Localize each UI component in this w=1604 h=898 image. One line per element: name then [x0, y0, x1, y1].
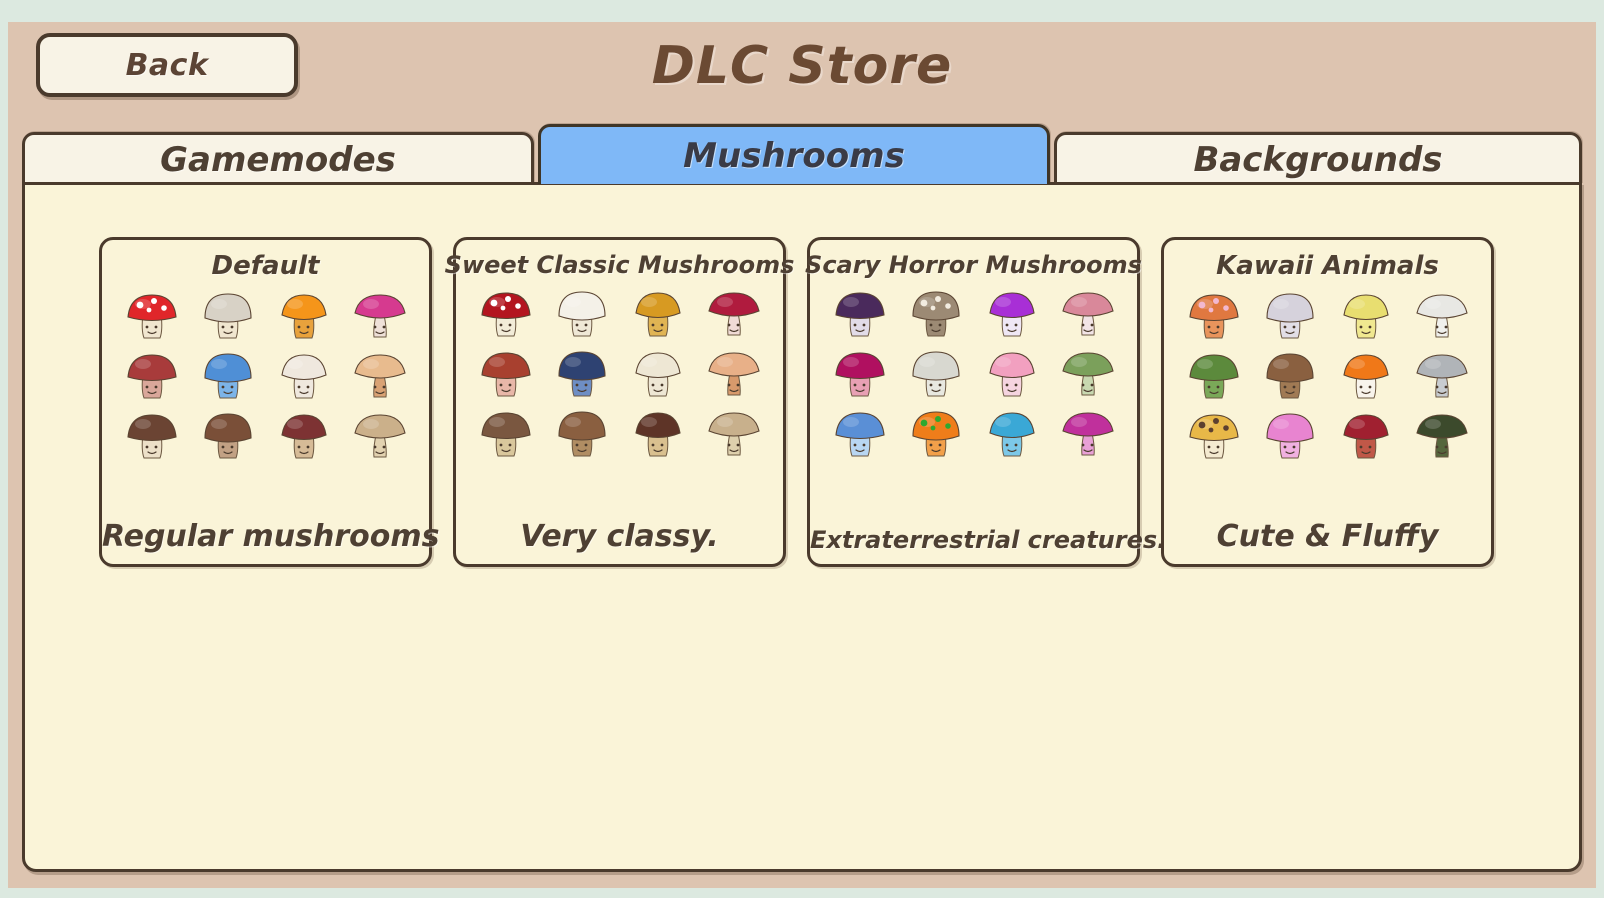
pale-parasol-sprite: [706, 409, 762, 461]
sprite-grid: [477, 288, 763, 462]
pack-title: Scary Horror Mushrooms: [805, 253, 1142, 278]
sprite-grid: [831, 288, 1117, 462]
grey-bunny-sprite: [1262, 291, 1318, 343]
navy-spiky-mushroom-sprite: [554, 349, 610, 401]
orange-coral-mushroom-sprite: [276, 291, 332, 343]
pack-card-kawaii-animals[interactable]: Kawaii Animals Cute & Fluffy: [1161, 237, 1494, 567]
green-alien-mushroom-sprite: [1060, 349, 1116, 401]
blue-spiky-mushroom-sprite: [200, 351, 256, 403]
cyan-parasol-mushroom-sprite: [984, 409, 1040, 461]
maroon-cap-mushroom-sprite: [124, 351, 180, 403]
brown-cluster-mushroom-sprite: [200, 411, 256, 463]
golden-chanterelle-sprite: [630, 289, 686, 341]
dark-wolf-sprite: [1414, 411, 1470, 463]
tall-beige-mushroom-sprite: [478, 409, 534, 461]
pink-elephant-sprite: [1262, 411, 1318, 463]
tan-coral-cluster-sprite: [352, 351, 408, 403]
sprite-grid: [123, 290, 409, 464]
pink-parasol-mushroom-sprite: [352, 291, 408, 343]
pack-description: Regular mushrooms: [102, 519, 429, 554]
blue-crystal-mushroom-sprite: [832, 409, 888, 461]
content-panel: Default Regular mushrooms Sweet Classic …: [22, 182, 1582, 872]
tab-backgrounds[interactable]: Backgrounds: [1054, 132, 1582, 184]
peach-coral-cluster-sprite: [706, 349, 762, 401]
tab-mushrooms-label: Mushrooms: [683, 136, 905, 176]
page-title: DLC Store: [8, 36, 1596, 96]
crimson-parasol-sprite: [706, 289, 762, 341]
pack-card-scary-horror-mushrooms[interactable]: Scary Horror Mushrooms Extraterrestrial …: [807, 237, 1140, 567]
sprite-grid: [1185, 290, 1471, 464]
pack-title: Kawaii Animals: [1216, 253, 1439, 280]
pale-brain-mushroom-sprite: [276, 351, 332, 403]
holey-skull-mushroom-sprite: [908, 289, 964, 341]
ghost-lantern-mushroom-sprite: [908, 349, 964, 401]
tab-gamemodes-label: Gamemodes: [160, 140, 396, 180]
dlc-store-screen: Back DLC Store Gamemodes Mushrooms Backg…: [0, 0, 1604, 898]
store-stage: Back DLC Store Gamemodes Mushrooms Backg…: [8, 22, 1596, 888]
tiger-cub-sprite: [1186, 411, 1242, 463]
pack-description: Extraterrestrial creatures.: [810, 526, 1137, 554]
flesh-pink-mushroom-sprite: [1060, 289, 1116, 341]
magenta-brain-mushroom-sprite: [832, 349, 888, 401]
pack-description: Cute & Fluffy: [1164, 519, 1491, 554]
tab-mushrooms[interactable]: Mushrooms: [538, 124, 1050, 184]
purple-wizard-mushroom-sprite: [832, 289, 888, 341]
pack-card-default[interactable]: Default Regular mushrooms: [99, 237, 432, 567]
white-sheep-sprite: [1414, 291, 1470, 343]
violet-glow-mushroom-sprite: [984, 289, 1040, 341]
thin-parasol-mushroom-sprite: [352, 411, 408, 463]
orange-cat-sprite: [1186, 291, 1242, 343]
dark-porcini-sprite: [630, 409, 686, 461]
pack-title: Default: [212, 253, 320, 280]
red-spotted-mushroom-sprite: [124, 291, 180, 343]
honey-fungus-cluster-sprite: [554, 409, 610, 461]
green-turtle-sprite: [1186, 351, 1242, 403]
tab-gamemodes[interactable]: Gamemodes: [22, 132, 534, 184]
pink-brain-mushroom-sprite: [984, 349, 1040, 401]
white-button-mushroom-sprite: [200, 291, 256, 343]
red-spotted-mushroom-sprite: [478, 289, 534, 341]
white-dome-mushroom-sprite: [554, 289, 610, 341]
pack-card-row: Default Regular mushrooms Sweet Classic …: [25, 185, 1582, 872]
orange-sprout-mushroom-sprite: [908, 409, 964, 461]
brown-bear-sprite: [1262, 351, 1318, 403]
pack-card-sweet-classic-mushrooms[interactable]: Sweet Classic Mushrooms Very classy.: [453, 237, 786, 567]
tab-backgrounds-label: Backgrounds: [1193, 140, 1442, 180]
dark-red-porcini-sprite: [276, 411, 332, 463]
magenta-spiky-mushroom-sprite: [1060, 409, 1116, 461]
rust-cap-mushroom-sprite: [478, 349, 534, 401]
red-crab-sprite: [1338, 411, 1394, 463]
pack-title: Sweet Classic Mushrooms: [445, 253, 795, 278]
cream-brain-mushroom-sprite: [630, 349, 686, 401]
orange-fox-sprite: [1338, 351, 1394, 403]
grey-robot-sprite: [1414, 351, 1470, 403]
pack-description: Very classy.: [456, 519, 783, 554]
tab-bar: Gamemodes Mushrooms Backgrounds: [22, 122, 1582, 184]
small-brown-toadstool-sprite: [124, 411, 180, 463]
yellow-chick-sprite: [1338, 291, 1394, 343]
